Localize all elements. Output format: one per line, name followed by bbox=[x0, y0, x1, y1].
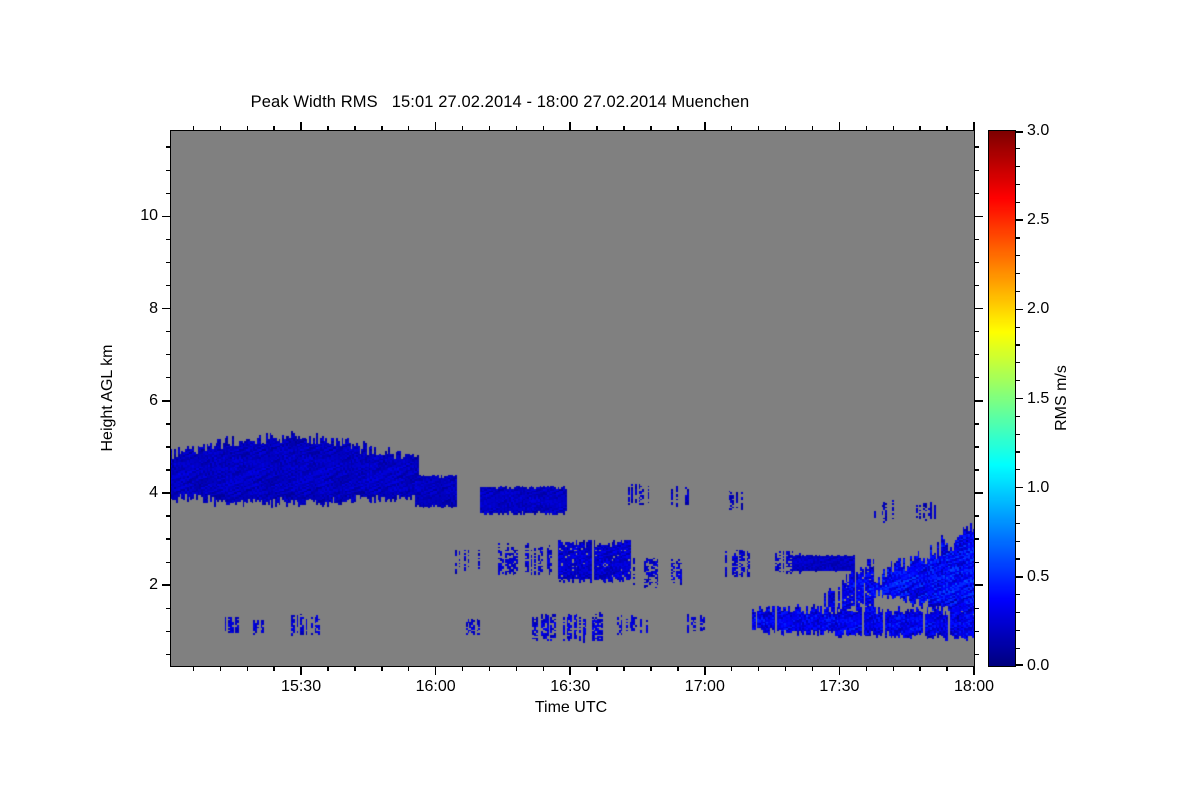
y-axis-minor-tick bbox=[166, 423, 171, 424]
x-axis-tick-label: 18:00 bbox=[954, 678, 994, 696]
y-axis-tick bbox=[974, 492, 983, 494]
y-axis-tick bbox=[974, 308, 983, 310]
x-axis-minor-tick bbox=[489, 126, 490, 131]
y-axis-minor-tick bbox=[974, 193, 979, 194]
y-axis-minor-tick bbox=[166, 562, 171, 563]
y-axis-minor-tick bbox=[166, 193, 171, 194]
y-axis-minor-tick bbox=[166, 446, 171, 447]
x-axis-tick-label: 17:00 bbox=[685, 678, 725, 696]
y-axis-minor-tick bbox=[974, 285, 979, 286]
y-axis-minor-tick bbox=[974, 538, 979, 539]
x-axis-minor-tick bbox=[623, 126, 624, 131]
x-axis-title: Time UTC bbox=[535, 699, 607, 717]
y-axis-minor-tick bbox=[166, 285, 171, 286]
y-axis-minor-tick bbox=[166, 654, 171, 655]
colorbar-tick-label: 0.5 bbox=[1027, 568, 1049, 586]
x-axis-minor-tick bbox=[893, 666, 894, 671]
x-axis-minor-tick bbox=[596, 666, 597, 671]
y-axis-tick-label: 2 bbox=[149, 576, 158, 594]
colorbar-minor-tick bbox=[1015, 202, 1020, 203]
x-axis-minor-tick bbox=[866, 666, 867, 671]
colorbar-tick-label: 2.0 bbox=[1027, 300, 1049, 318]
y-axis-tick bbox=[974, 400, 983, 402]
colorbar-minor-tick bbox=[1015, 434, 1020, 435]
colorbar-minor-tick bbox=[1015, 469, 1020, 470]
colorbar-minor-tick bbox=[1015, 541, 1020, 542]
figure-root: Peak Width RMS 15:01 27.02.2014 - 18:00 … bbox=[0, 0, 1200, 800]
x-axis-tick bbox=[569, 122, 571, 131]
y-axis-minor-tick bbox=[166, 354, 171, 355]
x-axis-tick bbox=[300, 122, 302, 131]
y-axis-minor-tick bbox=[166, 146, 171, 147]
x-axis-minor-tick bbox=[812, 126, 813, 131]
colorbar-tick bbox=[1015, 309, 1023, 311]
x-axis-tick-label: 16:30 bbox=[550, 678, 590, 696]
x-axis-tick bbox=[704, 122, 706, 131]
colorbar-minor-tick bbox=[1015, 148, 1020, 149]
x-axis-minor-tick bbox=[516, 126, 517, 131]
x-axis-minor-tick bbox=[273, 126, 274, 131]
x-axis-tick bbox=[704, 666, 706, 675]
x-axis-minor-tick bbox=[193, 666, 194, 671]
x-axis-minor-tick bbox=[220, 666, 221, 671]
colorbar-tick-label: 1.0 bbox=[1027, 479, 1049, 497]
y-axis-minor-tick bbox=[974, 331, 979, 332]
y-axis-tick bbox=[974, 584, 983, 586]
y-axis-minor-tick bbox=[166, 239, 171, 240]
y-axis-tick-label: 4 bbox=[149, 484, 158, 502]
colorbar-tick bbox=[1015, 487, 1023, 489]
y-axis-minor-tick bbox=[974, 608, 979, 609]
chart-title: Peak Width RMS 15:01 27.02.2014 - 18:00 … bbox=[0, 93, 1000, 112]
y-axis-minor-tick bbox=[166, 262, 171, 263]
x-axis-minor-tick bbox=[731, 666, 732, 671]
colorbar-minor-tick bbox=[1015, 416, 1020, 417]
y-axis-minor-tick bbox=[166, 331, 171, 332]
colorbar-minor-tick bbox=[1015, 273, 1020, 274]
x-axis-minor-tick bbox=[650, 126, 651, 131]
x-axis-minor-tick bbox=[193, 126, 194, 131]
y-axis-tick bbox=[162, 584, 171, 586]
x-axis-minor-tick bbox=[408, 666, 409, 671]
x-axis-tick bbox=[973, 666, 975, 675]
x-axis-minor-tick bbox=[327, 666, 328, 671]
y-axis-tick bbox=[162, 400, 171, 402]
y-axis-tick-label: 8 bbox=[149, 300, 158, 318]
x-axis-minor-tick bbox=[893, 126, 894, 131]
colorbar-tick-label: 0.0 bbox=[1027, 657, 1049, 675]
x-axis-minor-tick bbox=[408, 126, 409, 131]
y-axis-tick bbox=[162, 216, 171, 218]
x-axis-tick bbox=[839, 666, 841, 675]
y-axis-minor-tick bbox=[166, 515, 171, 516]
y-axis-minor-tick bbox=[166, 608, 171, 609]
x-axis-minor-tick bbox=[650, 666, 651, 671]
colorbar-minor-tick bbox=[1015, 255, 1020, 256]
colorbar-minor-tick bbox=[1015, 558, 1020, 559]
x-axis-minor-tick bbox=[489, 666, 490, 671]
colorbar-minor-tick bbox=[1015, 612, 1020, 613]
y-axis-tick bbox=[162, 492, 171, 494]
colorbar: 0.00.51.01.52.02.53.0 bbox=[988, 130, 1016, 667]
x-axis-minor-tick bbox=[543, 666, 544, 671]
colorbar-tick-label: 3.0 bbox=[1027, 122, 1049, 140]
y-axis-minor-tick bbox=[166, 469, 171, 470]
colorbar-minor-tick bbox=[1015, 344, 1020, 345]
x-axis-minor-tick bbox=[677, 666, 678, 671]
x-axis-minor-tick bbox=[273, 666, 274, 671]
colorbar-title: RMS m/s bbox=[1053, 365, 1071, 431]
colorbar-minor-tick bbox=[1015, 594, 1020, 595]
colorbar-minor-tick bbox=[1015, 451, 1020, 452]
x-axis-tick-label: 15:30 bbox=[281, 678, 321, 696]
x-axis-minor-tick bbox=[596, 126, 597, 131]
colorbar-tick-label: 1.5 bbox=[1027, 390, 1049, 408]
heatmap-canvas bbox=[171, 131, 974, 666]
x-axis-minor-tick bbox=[462, 666, 463, 671]
y-axis-minor-tick bbox=[974, 354, 979, 355]
colorbar-tick bbox=[1015, 219, 1023, 221]
y-axis-minor-tick bbox=[974, 446, 979, 447]
y-axis-tick-label: 10 bbox=[140, 207, 158, 225]
colorbar-tick bbox=[1015, 664, 1023, 666]
x-axis-minor-tick bbox=[785, 126, 786, 131]
x-axis-minor-tick bbox=[677, 126, 678, 131]
colorbar-minor-tick bbox=[1015, 630, 1020, 631]
x-axis-minor-tick bbox=[946, 126, 947, 131]
y-axis-minor-tick bbox=[974, 377, 979, 378]
y-axis-tick bbox=[974, 216, 983, 218]
x-axis-minor-tick bbox=[381, 666, 382, 671]
x-axis-tick bbox=[435, 122, 437, 131]
y-axis-minor-tick bbox=[974, 515, 979, 516]
y-axis-minor-tick bbox=[974, 170, 979, 171]
x-axis-minor-tick bbox=[731, 126, 732, 131]
colorbar-gradient bbox=[989, 131, 1015, 666]
x-axis-minor-tick bbox=[462, 126, 463, 131]
y-axis-title: Height AGL km bbox=[99, 344, 117, 451]
y-axis-minor-tick bbox=[974, 239, 979, 240]
y-axis-minor-tick bbox=[974, 562, 979, 563]
x-axis-minor-tick bbox=[758, 666, 759, 671]
x-axis-minor-tick bbox=[812, 666, 813, 671]
x-axis-tick bbox=[839, 122, 841, 131]
plot-area: 24681015:3016:0016:3017:0017:3018:00 bbox=[170, 130, 975, 667]
y-axis-minor-tick bbox=[974, 654, 979, 655]
colorbar-minor-tick bbox=[1015, 291, 1020, 292]
x-axis-minor-tick bbox=[327, 126, 328, 131]
y-axis-minor-tick bbox=[974, 631, 979, 632]
colorbar-minor-tick bbox=[1015, 648, 1020, 649]
x-axis-minor-tick bbox=[543, 126, 544, 131]
x-axis-minor-tick bbox=[623, 666, 624, 671]
x-axis-tick-label: 16:00 bbox=[416, 678, 456, 696]
x-axis-tick bbox=[300, 666, 302, 675]
x-axis-minor-tick bbox=[919, 126, 920, 131]
x-axis-minor-tick bbox=[247, 666, 248, 671]
colorbar-tick-label: 2.5 bbox=[1027, 211, 1049, 229]
colorbar-minor-tick bbox=[1015, 327, 1020, 328]
colorbar-minor-tick bbox=[1015, 505, 1020, 506]
colorbar-minor-tick bbox=[1015, 237, 1020, 238]
colorbar-minor-tick bbox=[1015, 523, 1020, 524]
x-axis-minor-tick bbox=[866, 126, 867, 131]
colorbar-minor-tick bbox=[1015, 362, 1020, 363]
y-axis-minor-tick bbox=[166, 377, 171, 378]
x-axis-tick-label: 17:30 bbox=[819, 678, 859, 696]
x-axis-minor-tick bbox=[946, 666, 947, 671]
y-axis-minor-tick bbox=[974, 423, 979, 424]
colorbar-tick bbox=[1015, 576, 1023, 578]
x-axis-minor-tick bbox=[785, 666, 786, 671]
x-axis-tick bbox=[435, 666, 437, 675]
x-axis-minor-tick bbox=[919, 666, 920, 671]
colorbar-minor-tick bbox=[1015, 380, 1020, 381]
y-axis-minor-tick bbox=[974, 469, 979, 470]
colorbar-tick bbox=[1015, 398, 1023, 400]
y-axis-minor-tick bbox=[166, 170, 171, 171]
y-axis-tick-label: 6 bbox=[149, 392, 158, 410]
x-axis-minor-tick bbox=[220, 126, 221, 131]
y-axis-tick bbox=[162, 308, 171, 310]
y-axis-minor-tick bbox=[974, 262, 979, 263]
x-axis-minor-tick bbox=[354, 666, 355, 671]
y-axis-minor-tick bbox=[166, 538, 171, 539]
y-axis-minor-tick bbox=[974, 146, 979, 147]
x-axis-minor-tick bbox=[247, 126, 248, 131]
colorbar-tick bbox=[1015, 131, 1023, 133]
x-axis-minor-tick bbox=[758, 126, 759, 131]
y-axis-minor-tick bbox=[166, 631, 171, 632]
x-axis-minor-tick bbox=[516, 666, 517, 671]
colorbar-minor-tick bbox=[1015, 166, 1020, 167]
x-axis-minor-tick bbox=[354, 126, 355, 131]
colorbar-minor-tick bbox=[1015, 184, 1020, 185]
x-axis-tick bbox=[973, 122, 975, 131]
x-axis-minor-tick bbox=[381, 126, 382, 131]
x-axis-tick bbox=[569, 666, 571, 675]
